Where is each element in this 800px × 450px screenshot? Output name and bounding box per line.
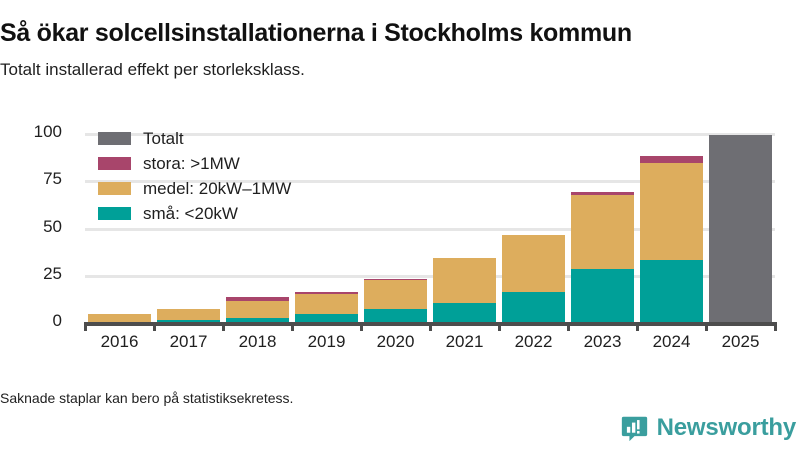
bar-segment-sma-2023[interactable]	[571, 269, 634, 322]
x-axis-tick	[153, 322, 156, 331]
bar-segment-sma-2018[interactable]	[226, 318, 289, 322]
bar-group-2019[interactable]	[295, 0, 358, 322]
y-tick-label-100: 100	[2, 122, 62, 142]
x-tick-label-2025: 2025	[696, 332, 786, 352]
bar-group-2024[interactable]	[640, 0, 703, 322]
legend-swatch-icon	[98, 182, 131, 195]
bar-segment-sma-2022[interactable]	[502, 292, 565, 322]
bar-segment-sma-2020[interactable]	[364, 309, 427, 322]
chart-legend: Totaltstora: >1MWmedel: 20kW–1MWsmå: <20…	[98, 126, 291, 226]
bar-group-2023[interactable]	[571, 0, 634, 322]
legend-item-2[interactable]: medel: 20kW–1MW	[98, 176, 291, 201]
legend-item-label: stora: >1MW	[143, 154, 240, 174]
legend-swatch-icon	[98, 132, 131, 145]
bar-segment-sma-2019[interactable]	[295, 314, 358, 322]
newsworthy-logo[interactable]: Newsworthy	[621, 414, 796, 442]
x-axis-tick	[222, 322, 225, 331]
bar-group-2021[interactable]	[433, 0, 496, 322]
bar-segment-medel-2017[interactable]	[157, 309, 220, 320]
x-axis-tick	[705, 322, 708, 331]
bar-segment-medel-2020[interactable]	[364, 280, 427, 308]
bar-segment-sma-2017[interactable]	[157, 320, 220, 322]
legend-swatch-icon	[98, 157, 131, 170]
bar-segment-totalt-2025[interactable]	[709, 135, 772, 322]
x-axis-tick	[291, 322, 294, 331]
bar-group-2025[interactable]	[709, 0, 772, 322]
legend-item-label: små: <20kW	[143, 204, 238, 224]
x-axis-tick	[360, 322, 363, 331]
newsworthy-logo-text: Newsworthy	[657, 414, 796, 442]
bar-group-2022[interactable]	[502, 0, 565, 322]
bar-segment-medel-2018[interactable]	[226, 301, 289, 318]
legend-swatch-icon	[98, 207, 131, 220]
x-axis-tick	[774, 322, 777, 331]
bar-segment-medel-2022[interactable]	[502, 235, 565, 292]
legend-item-0[interactable]: Totalt	[98, 126, 291, 151]
y-tick-label-75: 75	[2, 169, 62, 189]
bar-group-2020[interactable]	[364, 0, 427, 322]
y-tick-label-0: 0	[2, 311, 62, 331]
y-tick-label-25: 25	[2, 264, 62, 284]
x-axis-tick	[636, 322, 639, 331]
x-axis-tick	[84, 322, 87, 331]
chart-footnote: Saknade staplar kan bero på statistiksek…	[0, 390, 293, 406]
legend-item-1[interactable]: stora: >1MW	[98, 151, 291, 176]
x-axis-tick	[498, 322, 501, 331]
x-axis-tick	[567, 322, 570, 331]
bar-segment-sma-2024[interactable]	[640, 260, 703, 322]
bar-segment-medel-2016[interactable]	[88, 314, 151, 322]
y-tick-label-50: 50	[2, 217, 62, 237]
bar-segment-medel-2024[interactable]	[640, 163, 703, 259]
bar-segment-medel-2019[interactable]	[295, 294, 358, 315]
legend-item-label: medel: 20kW–1MW	[143, 179, 291, 199]
legend-item-3[interactable]: små: <20kW	[98, 201, 291, 226]
x-axis-tick	[429, 322, 432, 331]
bar-segment-medel-2021[interactable]	[433, 258, 496, 303]
bar-segment-stora-2024[interactable]	[640, 156, 703, 164]
legend-item-label: Totalt	[143, 129, 184, 149]
bar-chart-speech-bubble-icon	[621, 415, 648, 442]
bar-segment-sma-2021[interactable]	[433, 303, 496, 322]
bar-segment-medel-2023[interactable]	[571, 195, 634, 269]
